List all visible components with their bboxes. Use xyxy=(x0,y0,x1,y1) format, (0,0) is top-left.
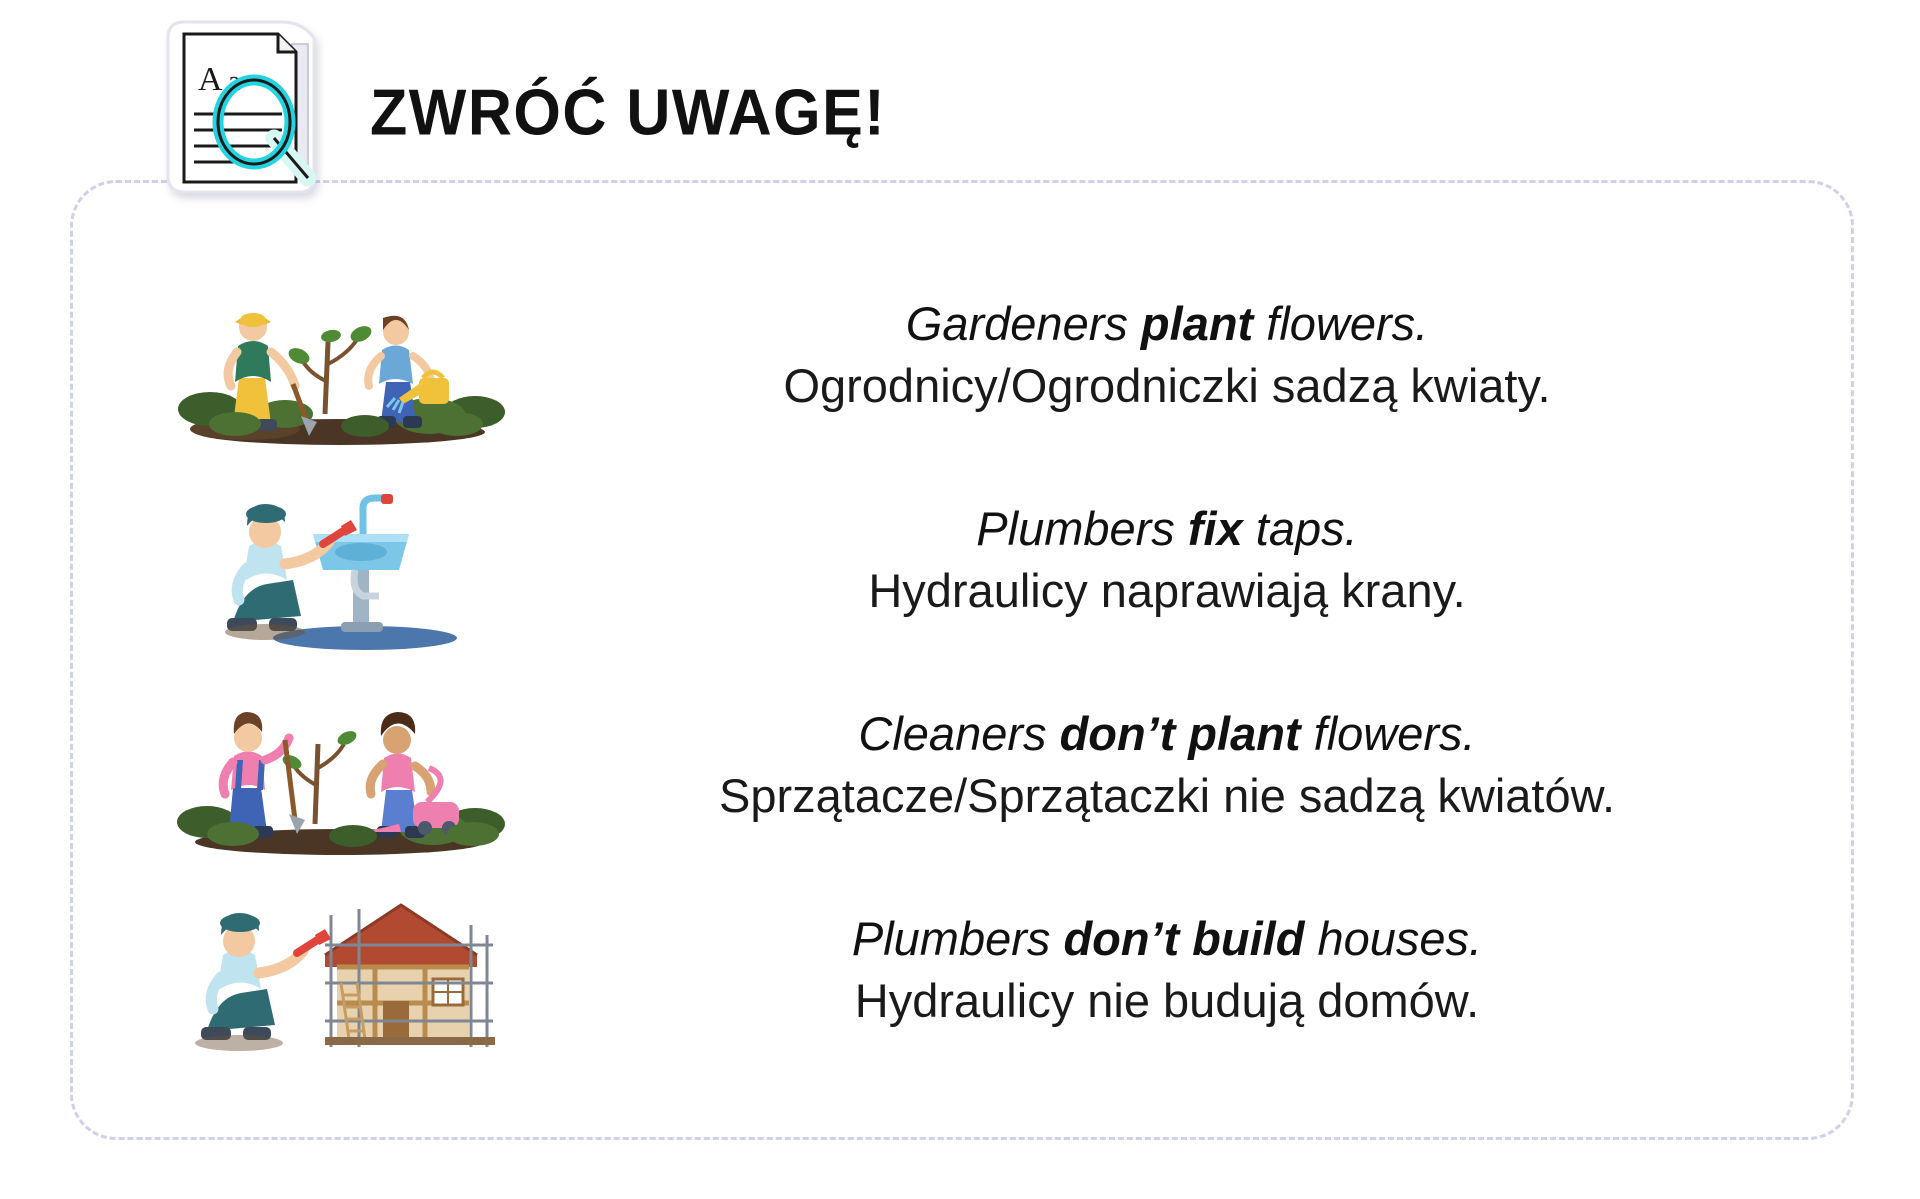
english-sentence: Plumbers don’t build houses. xyxy=(520,912,1814,967)
polish-sentence: Ogrodnicy/Ogrodniczki sadzą kwiaty. xyxy=(520,356,1814,416)
english-sentence: Cleaners don’t plant flowers. xyxy=(520,707,1814,762)
example-texts: Plumbers fix taps. Hydraulicy naprawiają… xyxy=(520,502,1854,621)
example-texts: Gardeners plant flowers. Ogrodnicy/Ogrod… xyxy=(520,297,1854,416)
en-prefix: Plumbers xyxy=(852,912,1064,965)
cleaners-vacuuming-illustration xyxy=(160,667,520,867)
en-bold: fix xyxy=(1188,502,1243,555)
list-item: Plumbers don’t build houses. Hydraulicy … xyxy=(70,869,1854,1074)
en-suffix: houses. xyxy=(1304,912,1482,965)
en-bold: don’t build xyxy=(1063,912,1304,965)
polish-sentence: Hydraulicy naprawiają krany. xyxy=(520,561,1814,621)
en-prefix: Gardeners xyxy=(906,297,1141,350)
examples-list: Gardeners plant flowers. Ogrodnicy/Ogrod… xyxy=(70,180,1854,1140)
example-texts: Plumbers don’t build houses. Hydraulicy … xyxy=(520,912,1854,1031)
en-prefix: Plumbers xyxy=(976,502,1188,555)
english-sentence: Plumbers fix taps. xyxy=(520,502,1814,557)
list-item: Cleaners don’t plant flowers. Sprzątacze… xyxy=(70,664,1854,869)
en-suffix: flowers. xyxy=(1253,297,1428,350)
gardeners-planting-illustration xyxy=(160,257,520,457)
en-bold: plant xyxy=(1141,297,1253,350)
english-sentence: Gardeners plant flowers. xyxy=(520,297,1814,352)
plumber-fixing-sink-illustration xyxy=(160,462,520,662)
polish-sentence: Sprzątacze/Sprzątaczki nie sadzą kwiatów… xyxy=(520,766,1814,826)
book-magnifier-icon: A a xyxy=(150,10,350,200)
example-texts: Cleaners don’t plant flowers. Sprzątacze… xyxy=(520,707,1854,826)
list-item: Gardeners plant flowers. Ogrodnicy/Ogrod… xyxy=(70,254,1854,459)
en-prefix: Cleaners xyxy=(858,707,1059,760)
page-title: ZWRÓĆ UWAGĘ! xyxy=(370,75,886,150)
en-suffix: flowers. xyxy=(1301,707,1476,760)
en-suffix: taps. xyxy=(1243,502,1358,555)
list-item: Plumbers fix taps. Hydraulicy naprawiają… xyxy=(70,459,1854,664)
plumber-house-construction-illustration xyxy=(160,872,520,1072)
en-bold: don’t plant xyxy=(1060,707,1301,760)
svg-text:A: A xyxy=(198,61,223,98)
page-header: A a ZWRÓĆ UWAGĘ! xyxy=(150,30,886,180)
polish-sentence: Hydraulicy nie budują domów. xyxy=(520,971,1814,1031)
